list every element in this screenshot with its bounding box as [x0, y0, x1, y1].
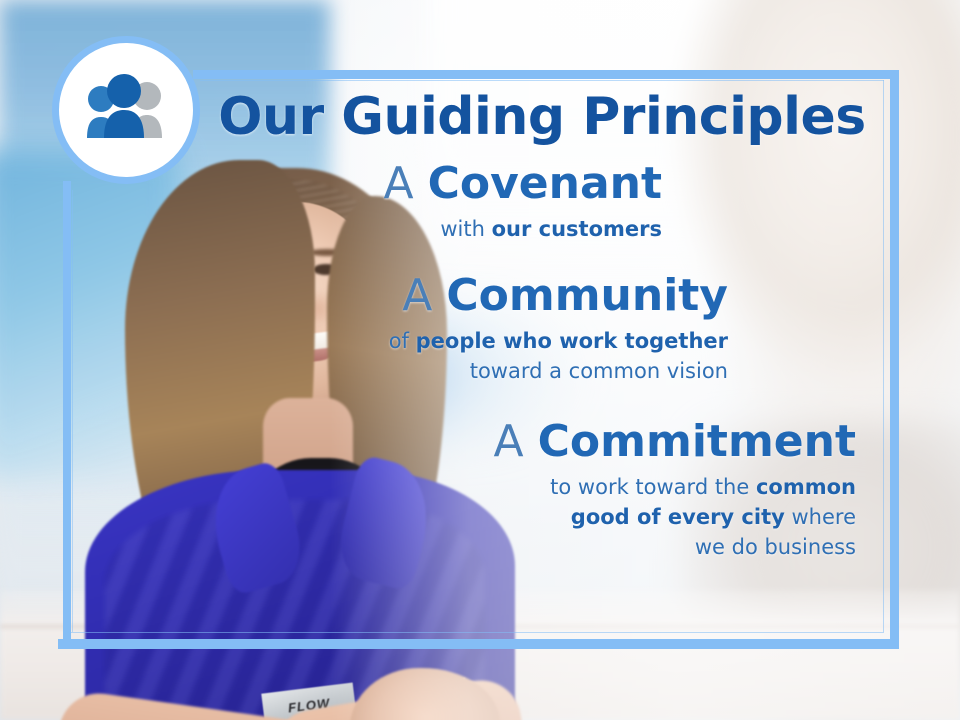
- subtext-line: toward a common vision: [200, 356, 728, 386]
- principle-community-headline: A Community: [200, 270, 728, 322]
- people-group-icon-badge: [52, 36, 200, 184]
- subtext-run: we do business: [695, 535, 856, 559]
- frame-border-top: [193, 70, 899, 79]
- principle-covenant-headline: A Covenant: [200, 158, 662, 210]
- subtext-run: with: [440, 217, 491, 241]
- subtext-line: with our customers: [200, 214, 662, 244]
- principle-covenant: A Covenant with our customers: [200, 158, 884, 244]
- subtext-emphasis: good of every city: [571, 505, 785, 529]
- subtext-line: of people who work together: [200, 326, 728, 356]
- principle-covenant-subtext: with our customers: [200, 214, 662, 244]
- frame-inner-line-left: [72, 190, 73, 632]
- principle-commitment-article: A: [494, 416, 524, 467]
- principle-commitment-subtext: to work toward the commongood of every c…: [200, 472, 856, 562]
- principle-community-word: Community: [446, 270, 728, 321]
- frame-border-bottom: [58, 639, 899, 649]
- frame-inner-line-bottom: [68, 632, 884, 633]
- subtext-emphasis: people who work together: [416, 329, 728, 353]
- principle-community: A Community of people who work togethert…: [200, 270, 884, 386]
- frame-border-left: [63, 181, 71, 643]
- subtext-line: we do business: [200, 532, 856, 562]
- frame-inner-line-top: [200, 80, 884, 81]
- subtext-line: to work toward the common: [200, 472, 856, 502]
- subtext-run: where: [785, 505, 856, 529]
- principle-covenant-article: A: [383, 158, 413, 209]
- principle-commitment: A Commitment to work toward the commongo…: [200, 416, 884, 562]
- principle-commitment-headline: A Commitment: [200, 416, 856, 468]
- subtext-emphasis: our customers: [492, 217, 662, 241]
- frame-border-right: [890, 70, 899, 648]
- page-title: Our Guiding Principles: [200, 86, 884, 148]
- principle-commitment-word: Commitment: [538, 416, 856, 467]
- copy-block: Our Guiding Principles A Covenant with o…: [200, 86, 884, 562]
- principle-covenant-word: Covenant: [428, 158, 662, 209]
- principle-community-subtext: of people who work togethertoward a comm…: [200, 326, 728, 386]
- subtext-run: to work toward the: [550, 475, 756, 499]
- guiding-principles-graphic: FLOW FLOW: [0, 0, 960, 720]
- subtext-line: good of every city where: [200, 502, 856, 532]
- subtext-run: toward a common vision: [470, 359, 728, 383]
- principle-community-article: A: [402, 270, 432, 321]
- subtext-run: of: [389, 329, 416, 353]
- subtext-emphasis: common: [756, 475, 856, 499]
- people-group-icon: [74, 74, 178, 146]
